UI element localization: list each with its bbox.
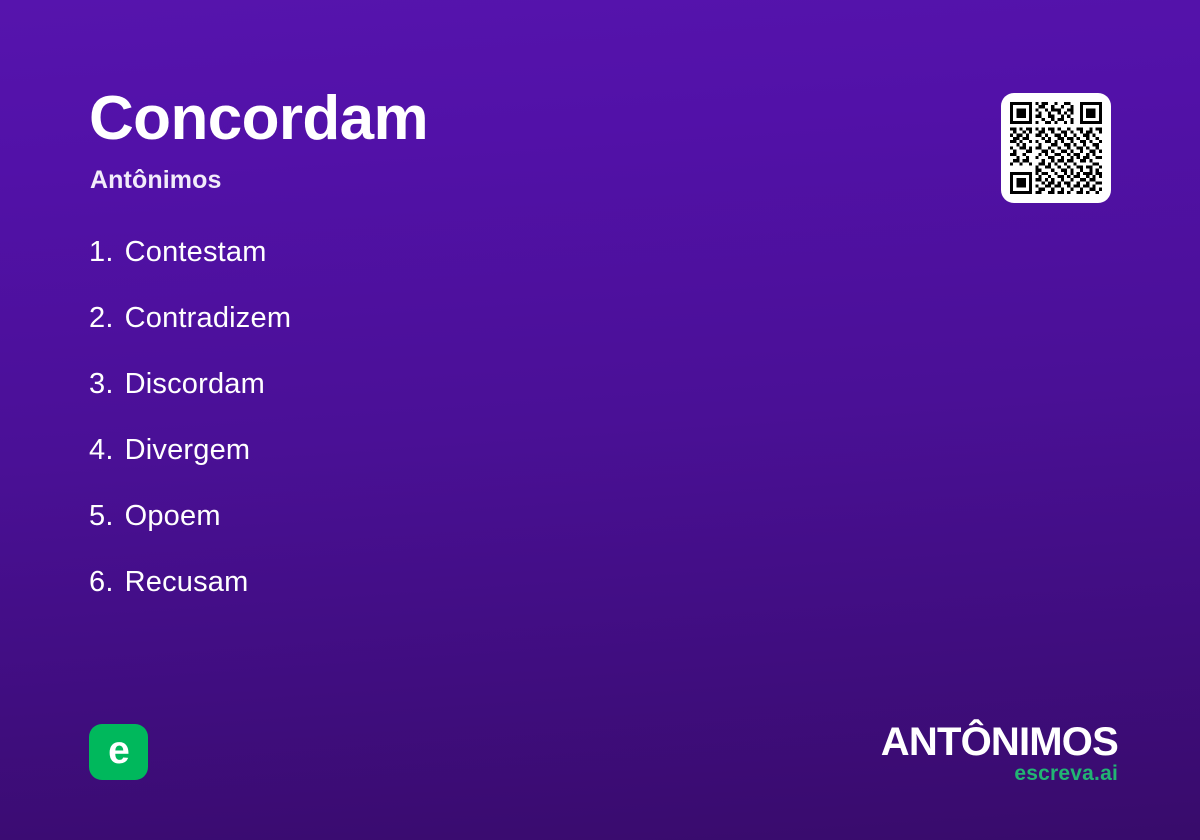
brand-logo-main: ANTÔNIMOS	[881, 722, 1118, 762]
list-item-index: 6.	[89, 568, 114, 597]
list-item-label: Discordam	[125, 370, 265, 399]
qr-code-svg	[1010, 102, 1102, 194]
brand-logo[interactable]: ANTÔNIMOS escreva.ai	[881, 722, 1118, 784]
qr-code-icon[interactable]	[1001, 93, 1111, 203]
list-item: 1. Contestam	[89, 238, 789, 304]
page-subtitle: Antônimos	[90, 168, 221, 193]
list-item: 2. Contradizem	[89, 304, 789, 370]
list-item: 3. Discordam	[89, 370, 789, 436]
list-item-label: Recusam	[125, 568, 249, 597]
antonyms-list: 1. Contestam 2. Contradizem 3. Discordam…	[89, 238, 789, 634]
list-item-index: 2.	[89, 304, 114, 333]
list-item-label: Contestam	[125, 238, 267, 267]
list-item-index: 1.	[89, 238, 114, 267]
page-title: Concordam	[89, 88, 428, 150]
list-item-label: Opoem	[125, 502, 221, 531]
antonyms-card: Concordam Antônimos 1. Contestam 2. Cont…	[0, 0, 1200, 840]
list-item-label: Contradizem	[125, 304, 292, 333]
list-item: 5. Opoem	[89, 502, 789, 568]
escreva-e-logo-icon[interactable]: e	[89, 724, 148, 780]
badge-letter: e	[108, 731, 129, 770]
brand-logo-sub: escreva.ai	[881, 763, 1118, 784]
list-item-index: 4.	[89, 436, 114, 465]
list-item: 4. Divergem	[89, 436, 789, 502]
list-item-index: 3.	[89, 370, 114, 399]
list-item-index: 5.	[89, 502, 114, 531]
list-item-label: Divergem	[125, 436, 251, 465]
list-item: 6. Recusam	[89, 568, 789, 634]
